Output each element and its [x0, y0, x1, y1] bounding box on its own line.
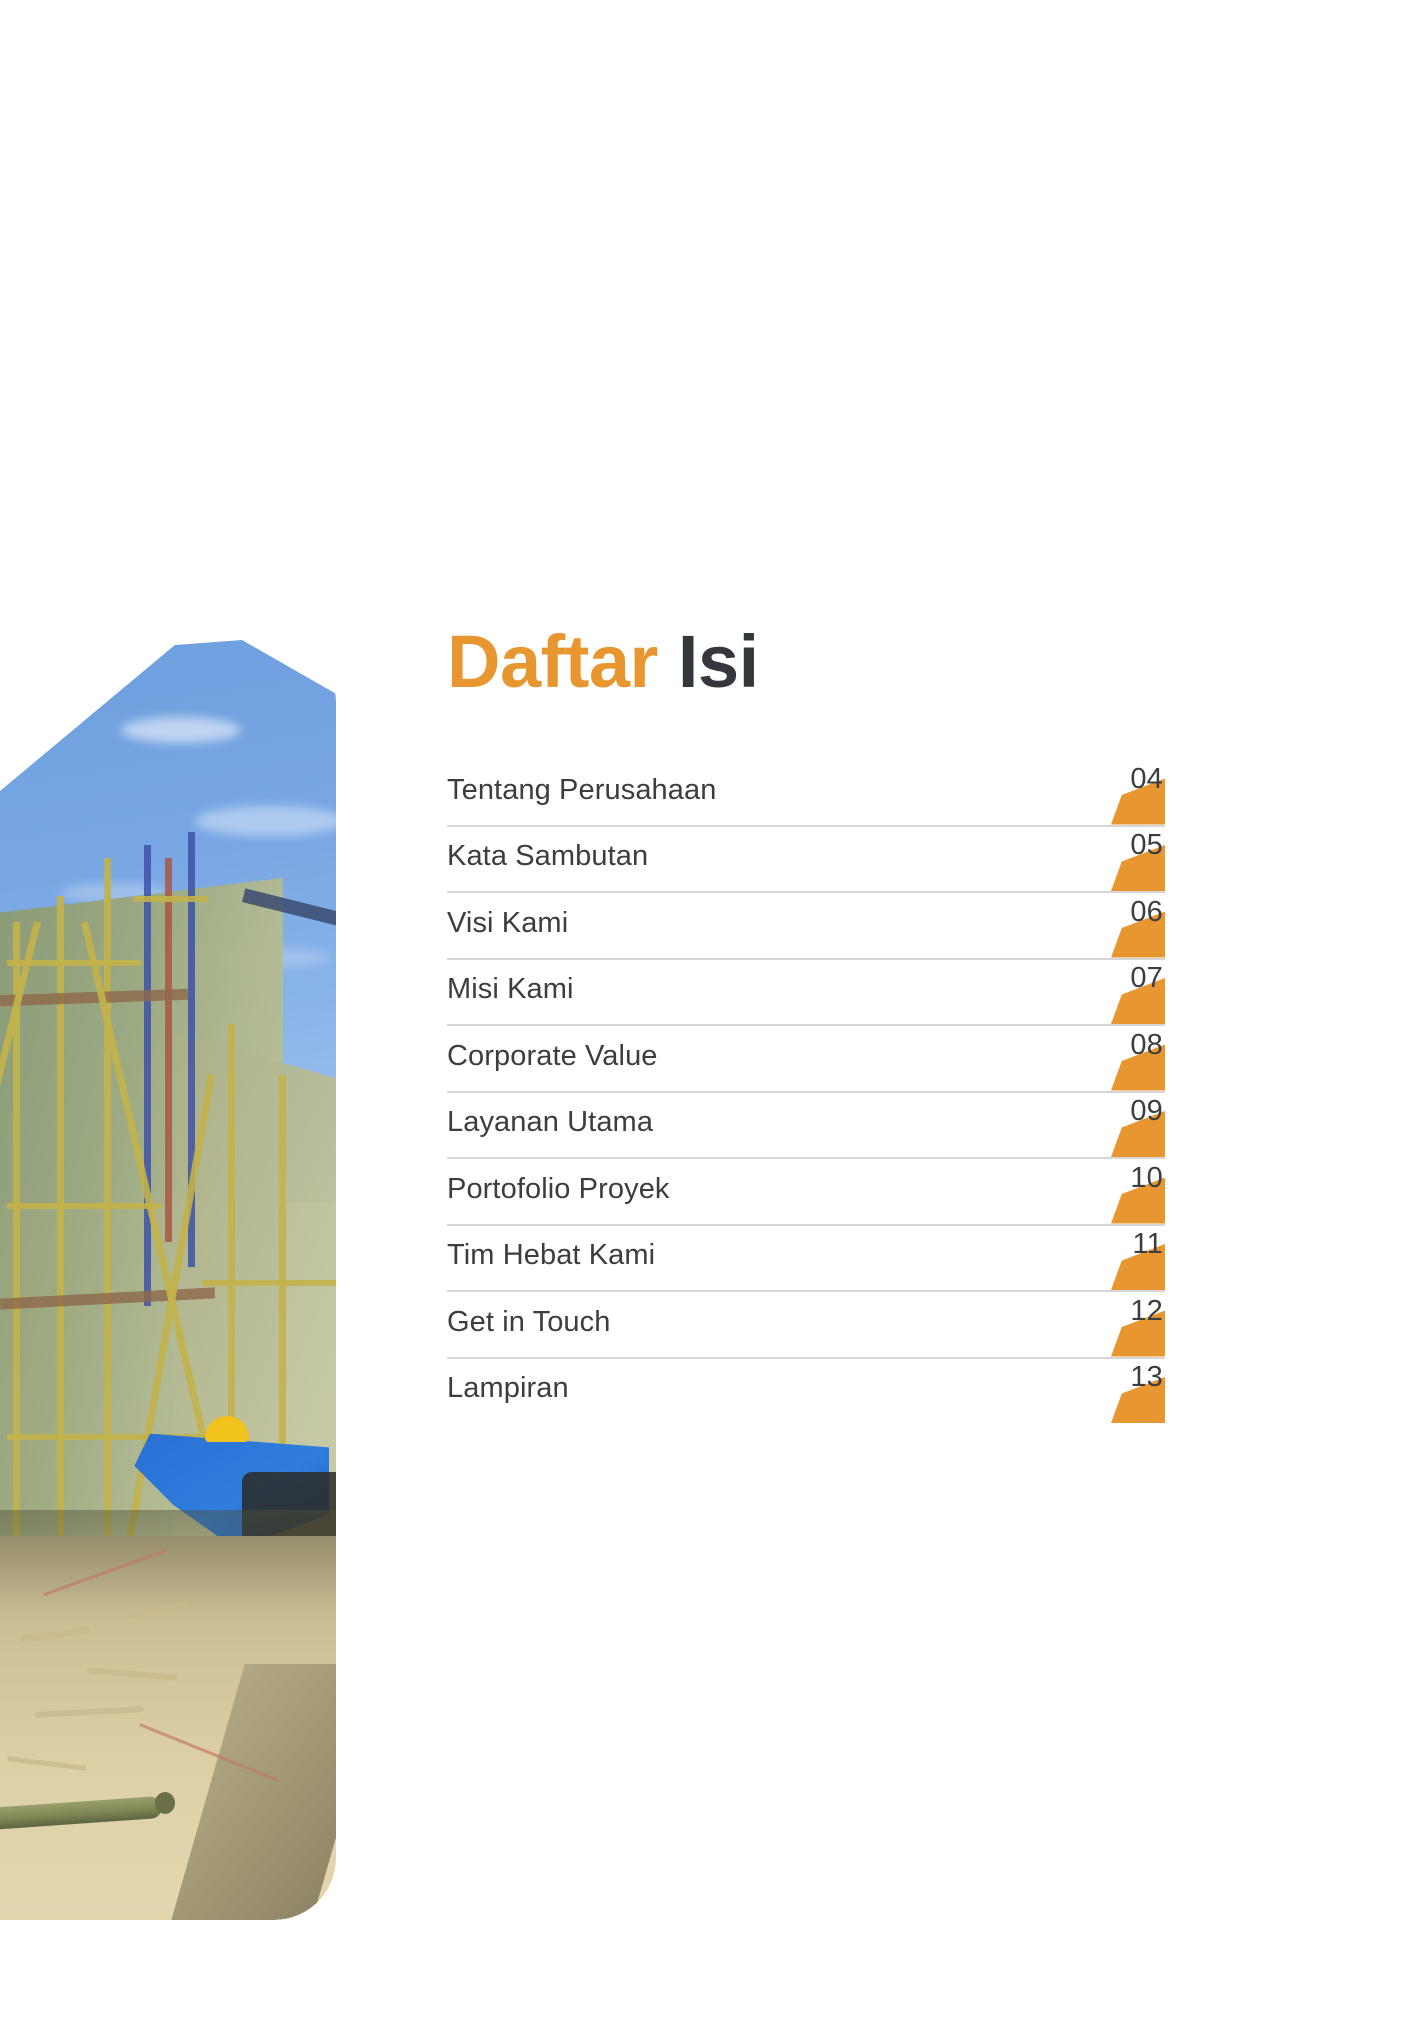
toc-page-number: 11: [1111, 1230, 1163, 1259]
toc-entry[interactable]: Lampiran 13: [447, 1359, 1165, 1424]
page-title-accent-word: Daftar: [447, 620, 658, 703]
scaffold-pole: [165, 858, 172, 1242]
toc-entry[interactable]: Kata Sambutan 05: [447, 827, 1165, 894]
toc-entry-label: Get in Touch: [447, 1308, 611, 1341]
toc-page-number: 10: [1111, 1164, 1163, 1193]
page-title-dark-word: Isi: [678, 620, 759, 703]
table-of-contents-list: Tentang Perusahaan 04 Kata Sambutan 05 V…: [447, 760, 1165, 1423]
construction-site-photo: [0, 640, 336, 1920]
toc-page-number: 06: [1111, 898, 1163, 927]
toc-page-number: 05: [1111, 831, 1163, 860]
toc-page-number: 08: [1111, 1031, 1163, 1060]
scaffold-rail: [7, 1203, 162, 1209]
toc-page-number-badge: 04: [1111, 779, 1165, 825]
pipe-end-cap: [155, 1792, 175, 1814]
toc-page-number-badge: 09: [1111, 1111, 1165, 1157]
toc-entry-label: Layanan Utama: [447, 1108, 653, 1141]
toc-entry-label: Tentang Perusahaan: [447, 776, 716, 809]
toc-page-number: 12: [1111, 1297, 1163, 1326]
toc-entry[interactable]: Misi Kami 07: [447, 960, 1165, 1027]
toc-page-number: 13: [1111, 1363, 1163, 1392]
toc-page-number: 09: [1111, 1097, 1163, 1126]
toc-page-number: 04: [1111, 765, 1163, 794]
toc-entry[interactable]: Layanan Utama 09: [447, 1093, 1165, 1160]
ground-shadow: [0, 1510, 336, 1612]
toc-entry-label: Misi Kami: [447, 975, 574, 1008]
toc-entry[interactable]: Get in Touch 12: [447, 1292, 1165, 1359]
toc-entry-label: Tim Hebat Kami: [447, 1241, 655, 1274]
toc-page-number-badge: 05: [1111, 845, 1165, 891]
toc-page-number-badge: 08: [1111, 1045, 1165, 1091]
toc-entry[interactable]: Tentang Perusahaan 04: [447, 760, 1165, 827]
toc-page-number-badge: 12: [1111, 1311, 1165, 1357]
cover-photo-panel: [0, 640, 336, 1920]
page-title: Daftar Isi: [447, 625, 759, 699]
toc-page-number-badge: 10: [1111, 1178, 1165, 1224]
toc-entry[interactable]: Tim Hebat Kami 11: [447, 1226, 1165, 1293]
scaffold-rail: [134, 896, 208, 902]
toc-entry-label: Lampiran: [447, 1374, 569, 1407]
toc-page-number-badge: 13: [1111, 1377, 1165, 1423]
toc-entry-label: Visi Kami: [447, 909, 568, 942]
toc-entry-label: Portofolio Proyek: [447, 1175, 670, 1208]
cloud-shape: [121, 717, 241, 743]
toc-page-number-badge: 06: [1111, 912, 1165, 958]
toc-entry-label: Corporate Value: [447, 1042, 658, 1075]
toc-entry[interactable]: Visi Kami 06: [447, 893, 1165, 960]
toc-entry[interactable]: Corporate Value 08: [447, 1026, 1165, 1093]
scaffold-pole: [144, 845, 151, 1306]
scaffold-rail: [202, 1280, 336, 1286]
toc-page-number: 07: [1111, 964, 1163, 993]
toc-page-number-badge: 07: [1111, 978, 1165, 1024]
toc-page-number-badge: 11: [1111, 1244, 1165, 1290]
toc-entry-label: Kata Sambutan: [447, 842, 648, 875]
toc-entry[interactable]: Portofolio Proyek 10: [447, 1159, 1165, 1226]
